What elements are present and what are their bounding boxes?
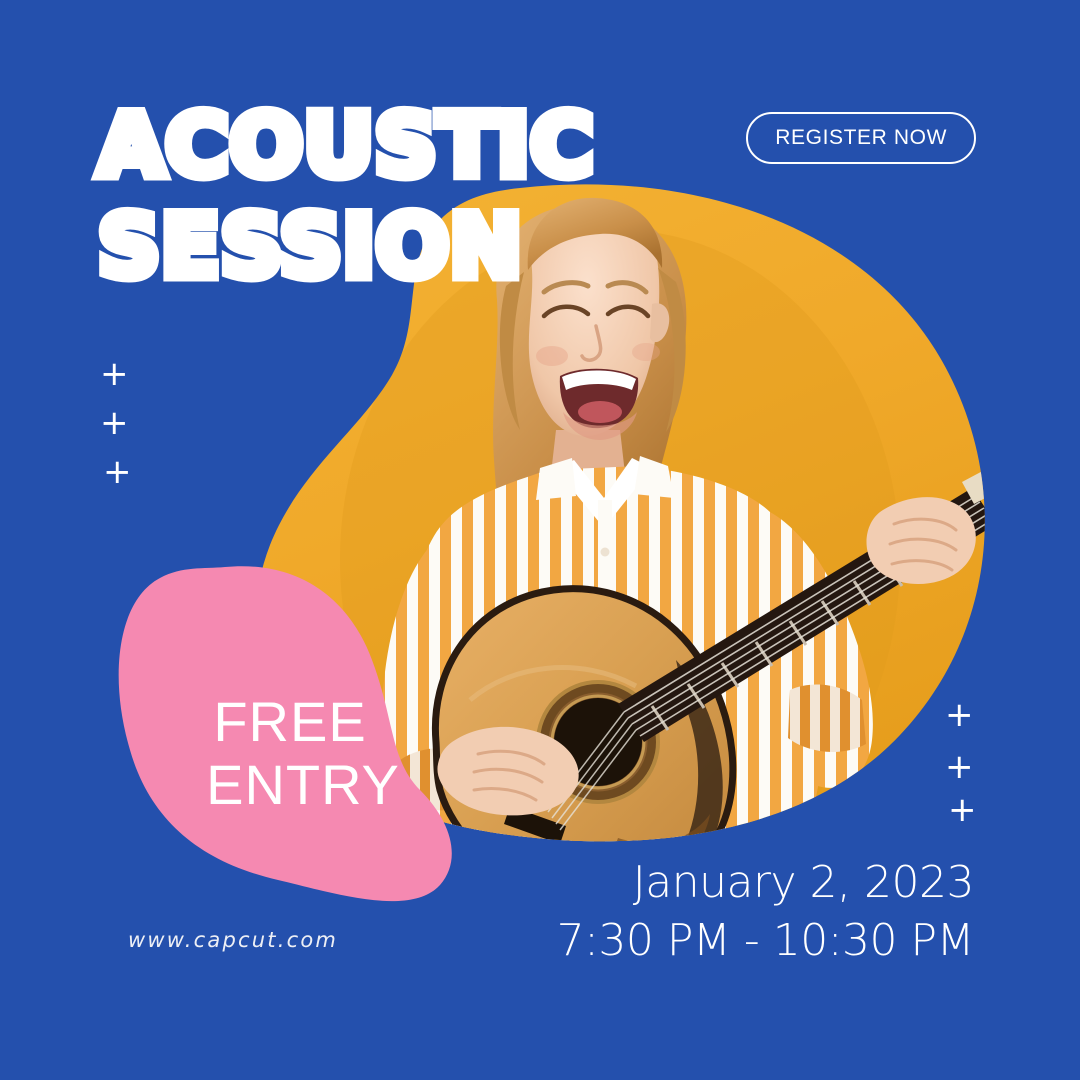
website-url[interactable]: www.capcut.com: [128, 928, 338, 952]
plus-icon-left-3: +: [103, 455, 132, 489]
title-line-2: SESSION: [98, 205, 594, 290]
plus-icon-right-1: +: [945, 698, 974, 732]
event-time: 7:30 PM - 10:30 PM: [557, 912, 974, 970]
free-entry-line-2: ENTRY: [150, 753, 430, 816]
event-datetime: January 2, 2023 7:30 PM - 10:30 PM: [557, 854, 974, 970]
plus-icon-left-1: +: [100, 357, 129, 391]
register-now-button[interactable]: REGISTER NOW: [746, 112, 976, 164]
plus-icon-left-2: +: [100, 406, 129, 440]
free-entry-line-1: FREE: [150, 690, 430, 753]
poster-canvas: ACOUSTIC SESSION REGISTER NOW FREE ENTRY…: [0, 0, 1080, 1080]
event-date: January 2, 2023: [557, 854, 974, 912]
free-entry-badge: FREE ENTRY: [150, 690, 430, 817]
plus-icon-right-3: +: [948, 793, 977, 827]
page-title: ACOUSTIC SESSION: [98, 104, 594, 290]
title-line-1: ACOUSTIC: [98, 104, 594, 189]
plus-icon-right-2: +: [945, 750, 974, 784]
